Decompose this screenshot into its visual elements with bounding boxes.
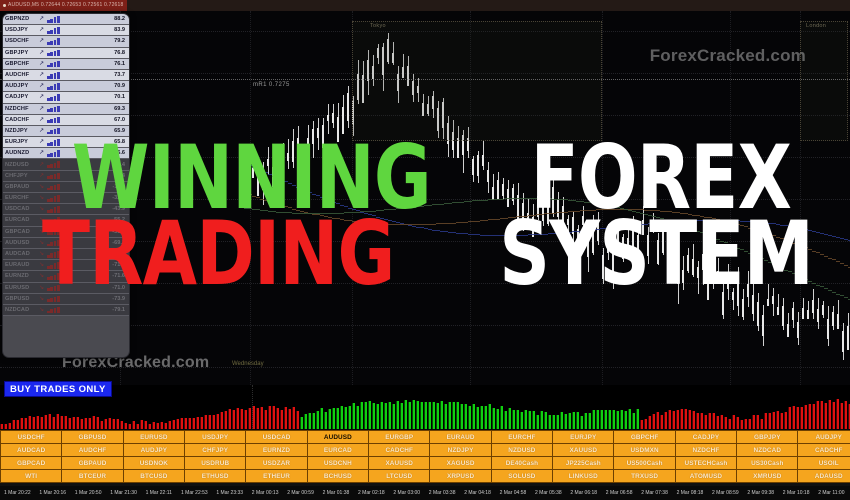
histogram-bar [144,421,147,429]
histogram-bar [748,419,751,429]
time-axis: 1 Mar 20:221 Mar 20:161 Mar 20:501 Mar 2… [0,486,850,500]
dashboard-cell-usdjpy[interactable]: USDJPY [185,431,246,444]
session-box-london [800,21,848,141]
dashboard-cell-usoil[interactable]: USOIL [798,457,850,470]
dashboard-cell-gbpaud[interactable]: GBPAUD [62,457,123,470]
histogram-bar [204,415,207,429]
strength-bars [47,284,71,291]
scanner-row[interactable]: EURCAD↘-55.2 [3,215,129,226]
histogram-bar [104,419,107,429]
trend-arrow-icon: ↗ [39,16,46,22]
dashboard-cell-us500cash[interactable]: US500Cash [614,457,675,470]
histogram-bar [92,416,95,429]
dashboard-cell-de40cash[interactable]: DE40Cash [491,457,552,470]
dashboard-cell-eurusd[interactable]: EURUSD [123,431,184,444]
scanner-row[interactable]: AUDCAD↘-71.1 [3,249,129,260]
dashboard-cell-usdnok[interactable]: USDNOK [123,457,184,470]
histogram-bar [200,417,203,429]
histogram-bar [612,410,615,429]
histogram-bar [12,420,15,429]
scanner-symbol: CHFJPY [5,173,38,179]
scanner-symbol: EURJPY [5,139,38,145]
histogram-bar [396,401,399,429]
histogram-bar [512,410,515,429]
dashboard-cell-eurgbp[interactable]: EURGBP [369,431,430,444]
dashboard-cell-usdmxn[interactable]: USDMXN [614,444,675,457]
scanner-value: 65.6 [72,150,127,156]
histogram-bar [260,407,263,429]
histogram-bar [56,414,59,429]
histogram-bar [488,404,491,429]
histogram-bar [316,411,319,429]
histogram-bar [152,422,155,429]
scanner-value: 73.7 [72,72,127,78]
table-row: USDCHFGBPUSDEURUSDUSDJPYUSDCADAUDUSDEURG… [1,431,850,444]
histogram-bar [108,418,111,429]
scanner-symbol: EURCAD [5,217,38,223]
dashboard-cell-audusd[interactable]: AUDUSD [307,431,368,444]
dashboard-cell-usdcad[interactable]: USDCAD [246,431,307,444]
histogram-bar [808,404,811,429]
scanner-value: -58.0 [72,229,127,235]
histogram-bar [292,407,295,429]
scanner-value: 65.9 [72,128,127,134]
histogram-bar [340,406,343,429]
scanner-row[interactable]: AUDCHF↗73.7 [3,70,129,81]
time-axis-label: 1 Mar 20:22 [4,490,31,496]
histogram-bar [780,413,783,429]
histogram-bar [320,408,323,429]
dashboard-cell-audcad[interactable]: AUDCAD [1,444,62,457]
histogram-bar [276,408,279,429]
dashboard-cell-nzdjpy[interactable]: NZDJPY [430,444,491,457]
dashboard-cell-eurchf[interactable]: EURCHF [491,431,552,444]
histogram-bar [172,420,175,429]
scanner-symbol: USDCHF [5,38,38,44]
histogram-bar [636,409,639,429]
histogram-bar [392,404,395,429]
scanner-symbol: AUDCHF [5,72,38,78]
scanner-row[interactable]: GBPJPY↗76.8 [3,48,129,59]
histogram-bar [624,411,627,429]
strength-bars [47,172,71,179]
scanner-row[interactable]: EURUSD↘-71.0 [3,283,129,294]
histogram-bar [804,405,807,429]
histogram-bar [256,408,259,429]
scanner-symbol: EURUSD [5,285,38,291]
scanner-value: -32.1 [72,195,127,201]
histogram-bar [528,411,531,429]
histogram-bar [548,415,551,429]
strength-bars [47,16,71,23]
scanner-symbol: NZDJPY [5,128,38,134]
scanner-row[interactable]: NZDCAD↘-79.1 [3,305,129,316]
scanner-value: 65.8 [72,139,127,145]
strength-bars [47,27,71,34]
dashboard-cell-gbpcad[interactable]: GBPCAD [1,457,62,470]
scanner-row[interactable]: AUDNZD↗65.6 [3,148,129,159]
histogram-bar [684,409,687,429]
time-axis-label: 2 Mar 03:00 [393,490,420,496]
trend-arrow-icon: ↗ [39,139,46,145]
scanner-symbol: GBPNZD [5,16,38,22]
dashboard-cell-nzdcad[interactable]: NZDCAD [737,444,798,457]
histogram-bar [584,413,587,429]
scanner-row[interactable]: GBPCHF↗76.1 [3,59,129,70]
strength-bars [47,239,71,246]
trend-arrow-icon: ↘ [39,240,46,246]
histogram-bar [652,414,655,429]
scanner-value: 79.2 [72,38,127,44]
scanner-row[interactable]: CHFJPY↗43.4 [3,171,129,182]
scanner-value: -71.1 [72,251,127,257]
histogram-bar [432,402,435,429]
histogram-bar [312,413,315,429]
histogram-bar [280,410,283,429]
dashboard-cell-xrpusd[interactable]: XRPUSD [430,470,491,483]
histogram-bar [188,418,191,429]
scanner-row[interactable]: GBPUSD↘-73.9 [3,294,129,305]
histogram-bar [760,419,763,429]
close-icon[interactable] [3,4,6,7]
dashboard-cell-eurjpy[interactable]: EURJPY [553,431,614,444]
histogram-bar [560,412,563,429]
strength-bars [47,105,71,112]
histogram-bar [844,401,847,429]
histogram-bar [236,408,239,429]
scanner-symbol: AUDCAD [5,251,38,257]
scanner-row[interactable]: CADJPY↗70.1 [3,92,129,103]
histogram-bar [120,421,123,429]
strength-bars [47,228,71,235]
histogram-bar [96,417,99,429]
dashboard-cell-usdchf[interactable]: USDCHF [1,431,62,444]
histogram-bar [232,410,235,429]
histogram-bar [620,410,623,429]
time-axis-label: 1 Mar 20:16 [39,490,66,496]
dashboard-cell-linkusd[interactable]: LINKUSD [553,470,614,483]
dashboard-cell-audjpy[interactable]: AUDJPY [123,444,184,457]
dashboard-cell-usdcnh[interactable]: USDCNH [307,457,368,470]
histogram-bar [472,404,475,429]
histogram-bar [324,412,327,429]
histogram-bar [444,404,447,430]
currency-strength-scanner[interactable]: GBPNZD↗88.2USDJPY↗83.9USDCHF↗79.2GBPJPY↗… [2,13,130,358]
histogram-bar [532,411,535,429]
trend-arrow-icon: ↘ [39,217,46,223]
histogram-bar [704,415,707,429]
histogram-bar [8,423,11,429]
histogram-bar [376,404,379,429]
histogram-bar [784,412,787,429]
momentum-histogram [0,385,850,429]
dashboard-cell-jp225cash[interactable]: JP225Cash [553,457,614,470]
scanner-symbol: CADCHF [5,117,38,123]
dashboard-cell-nzdusd[interactable]: NZDUSD [491,444,552,457]
dashboard-cell-btcusd[interactable]: BTCUSD [123,470,184,483]
scanner-row[interactable]: EURJPY↗65.8 [3,137,129,148]
histogram-bar [328,409,331,429]
strength-bars [47,183,71,190]
histogram-bar [116,419,119,429]
dashboard-cell-gbpchf[interactable]: GBPCHF [614,431,675,444]
histogram-bar [176,419,179,429]
histogram-bar [744,419,747,429]
histogram-bar [16,420,19,429]
trend-arrow-icon: ↘ [39,307,46,313]
histogram-bar [168,421,171,429]
histogram-bar [404,400,407,429]
dashboard-cell-cadjpy[interactable]: CADJPY [675,431,736,444]
dashboard-cell-usdzar[interactable]: USDZAR [246,457,307,470]
strength-bars [47,83,71,90]
dashboard-cell-audjpy[interactable]: AUDJPY [798,431,850,444]
histogram-bar [100,421,103,429]
scanner-value: -69.3 [72,240,127,246]
histogram-bar [124,423,127,429]
time-axis-label: 2 Mar 00:13 [252,490,279,496]
dashboard-cell-usdrub[interactable]: USDRUB [185,457,246,470]
histogram-bar [680,409,683,429]
scanner-row[interactable]: NZDCHF↗69.3 [3,104,129,115]
scanner-row[interactable]: AUDJPY↗70.9 [3,81,129,92]
histogram-bar [824,403,827,429]
trend-arrow-icon: ↗ [39,83,46,89]
trend-arrow-icon: ↘ [39,285,46,291]
histogram-bar [792,406,795,429]
strength-bars [47,49,71,56]
histogram-bar [240,409,243,429]
histogram-bar [464,404,467,429]
scanner-value: 76.8 [72,50,127,56]
scanner-value: -73.9 [72,296,127,302]
histogram-bar [592,410,595,429]
scanner-row[interactable]: AUDUSD↘-69.3 [3,238,129,249]
trend-arrow-icon: ↗ [39,162,46,168]
dashboard-cell-bchusd[interactable]: BCHUSD [307,470,368,483]
histogram-bar [752,415,755,429]
dashboard-cell-audchf[interactable]: AUDCHF [62,444,123,457]
trend-arrow-icon: ↘ [39,206,46,212]
scanner-row[interactable]: USDCAD↘-43.9 [3,204,129,215]
dashboard-cell-chfjpy[interactable]: CHFJPY [185,444,246,457]
scanner-row[interactable]: NZDJPY↗65.9 [3,126,129,137]
histogram-bar [32,417,35,429]
chart-tab-audusd[interactable]: AUDUSD,M5 0.72644 0.72653 0.72561 0.7261… [0,0,127,11]
dashboard-cell-xagusd[interactable]: XAGUSD [430,457,491,470]
histogram-bar [468,406,471,429]
histogram-bar [388,402,391,429]
scanner-symbol: AUDJPY [5,83,38,89]
histogram-bar [492,408,495,429]
histogram-bar [524,410,527,429]
histogram-bar [504,411,507,429]
dashboard-cell-cadchf[interactable]: CADCHF [369,444,430,457]
dashboard-cell-ustechcash[interactable]: USTECHCash [675,457,736,470]
time-axis-label: 1 Mar 20:50 [75,490,102,496]
histogram-bar [412,400,415,429]
scanner-value: 67.0 [72,117,127,123]
dashboard-cell-cadchf[interactable]: CADCHF [798,444,850,457]
trend-arrow-icon: ↘ [39,262,46,268]
dashboard-cell-gbpusd[interactable]: GBPUSD [62,431,123,444]
trend-arrow-icon: ↗ [39,50,46,56]
scanner-symbol: GBPAUD [5,184,38,190]
histogram-bar [796,407,799,429]
session-box-tokyo [352,21,602,141]
dashboard-cell-ltcusd[interactable]: LTCUSD [369,470,430,483]
histogram-bar [436,403,439,429]
histogram-bar [372,403,375,429]
dashboard-cell-etheur[interactable]: ETHEUR [246,470,307,483]
scanner-symbol: USDJPY [5,27,38,33]
trend-arrow-icon: ↘ [39,273,46,279]
strength-bars [47,262,71,269]
histogram-bar [44,415,47,429]
scanner-value: 88.2 [72,16,127,22]
histogram-bar [140,420,143,429]
scanner-row[interactable]: GBPNZD↗88.2 [3,14,129,25]
trend-arrow-icon: ↗ [39,72,46,78]
dashboard-cell-gbpjpy[interactable]: GBPJPY [737,431,798,444]
strength-bars [47,127,71,134]
scanner-value: -55.2 [72,217,127,223]
histogram-bar [336,408,339,429]
histogram-bar [788,407,791,429]
scanner-value: -71.0 [72,285,127,291]
histogram-bar [352,403,355,429]
histogram-bar [816,401,819,429]
dashboard-cell-nzdchf[interactable]: NZDCHF [675,444,736,457]
scanner-row[interactable]: EURCHF↘-32.1 [3,193,129,204]
histogram-bar [728,419,731,429]
histogram-bar [164,423,167,429]
dashboard-cell-wti[interactable]: WTI [1,470,62,483]
dashboard-cell-euraud[interactable]: EURAUD [430,431,491,444]
dashboard-cell-adausd[interactable]: ADAUSD [798,470,850,483]
dashboard-cell-trxusd[interactable]: TRXUSD [614,470,675,483]
histogram-bar [688,410,691,429]
histogram-bar [696,413,699,429]
dashboard-cell-xmrusd[interactable]: XMRUSD [737,470,798,483]
dashboard-cell-eurcad[interactable]: EURCAD [307,444,368,457]
histogram-bar [156,423,159,429]
dashboard-cell-us30cash[interactable]: US30Cash [737,457,798,470]
histogram-bar [812,404,815,429]
histogram-bar [712,413,715,429]
histogram-bar [384,403,387,429]
trading-terminal-screenshot: AUDUSD,M5 0.72644 0.72653 0.72561 0.7261… [0,0,850,500]
table-row: AUDCADAUDCHFAUDJPYCHFJPYEURNZDEURCADCADC… [1,444,850,457]
scanner-row[interactable]: GBPCAD↘-58.0 [3,227,129,238]
dashboard-cell-ethusd[interactable]: ETHUSD [185,470,246,483]
histogram-bar [304,414,307,429]
histogram-bar [508,408,511,429]
scanner-row[interactable]: GBPAUD↘-11.0 [3,182,129,193]
histogram-bar [644,419,647,429]
histogram-bar [556,415,559,429]
histogram-bar [640,420,643,429]
histogram-bar [580,416,583,430]
histogram-bar [112,419,115,429]
scanner-symbol: AUDNZD [5,150,38,156]
scanner-value: 43.4 [72,173,127,179]
dashboard-cell-xauusd[interactable]: XAUUSD [553,444,614,457]
histogram-bar [536,415,539,429]
scanner-value: 83.9 [72,27,127,33]
scanner-value: 69.3 [72,106,127,112]
titlebar-filler [127,0,850,11]
trend-arrow-icon: ↗ [39,128,46,134]
scanner-value: -71.2 [72,262,127,268]
time-axis-label: 2 Mar 06:18 [570,490,597,496]
histogram-bar [416,401,419,429]
scanner-value: -43.9 [72,206,127,212]
histogram-bar [608,410,611,429]
session-label-tokyo: Tokyo [370,23,386,29]
histogram-bar [344,407,347,430]
time-axis-label: 2 Mar 01:38 [323,490,350,496]
scanner-value: -11.0 [72,184,127,190]
time-axis-label: 2 Mar 04:18 [464,490,491,496]
window-titlebar: AUDUSD,M5 0.72644 0.72653 0.72561 0.7261… [0,0,850,11]
scanner-symbol: GBPJPY [5,50,38,56]
scanner-row[interactable]: EURAUD↘-71.2 [3,260,129,271]
dashboard-cell-solusd[interactable]: SOLUSD [491,470,552,483]
trend-arrow-icon: ↗ [39,27,46,33]
histogram-bar [616,411,619,429]
scanner-symbol: USDCAD [5,206,38,212]
time-axis-label: 1 Mar 22:11 [146,490,172,496]
scanner-row[interactable]: EURNZD↘-71.6 [3,271,129,282]
histogram-bar [76,417,79,429]
time-axis-label: 1 Mar 22:53 [181,490,208,496]
histogram-bar [764,413,767,429]
histogram-bar [332,408,335,429]
scanner-value: -71.6 [72,273,127,279]
time-axis-label: 2 Mar 09:38 [747,490,774,496]
scanner-row[interactable]: CADCHF↗67.0 [3,115,129,126]
histogram-bar [20,418,23,429]
strength-bars [47,94,71,101]
histogram-bar [356,406,359,429]
trend-arrow-icon: ↘ [39,251,46,257]
scanner-row[interactable]: USDCHF↗79.2 [3,36,129,47]
histogram-bar [184,418,187,429]
trend-arrow-icon: ↗ [39,173,46,179]
time-axis-label: 1 Mar 21:30 [110,490,137,496]
scanner-row[interactable]: USDJPY↗83.9 [3,25,129,36]
histogram-bar [52,417,55,429]
histogram-bar [180,418,183,429]
dashboard-cell-atomusd[interactable]: ATOMUSD [675,470,736,483]
histogram-bar [216,414,219,429]
histogram-bar [732,415,735,429]
histogram-bar [672,411,675,429]
histogram-bar [588,413,591,429]
histogram-bar [480,406,483,429]
strength-bars [47,206,71,213]
dashboard-cell-xauusd[interactable]: XAUUSD [369,457,430,470]
strength-bars [47,139,71,146]
histogram-bar [700,413,703,429]
scanner-row[interactable]: NZDUSD↗48.4 [3,159,129,170]
time-axis-label: 2 Mar 03:38 [429,490,456,496]
dashboard-cell-btceur[interactable]: BTCEUR [62,470,123,483]
scanner-symbol: EURNZD [5,273,38,279]
histogram-bar [212,415,215,429]
dashboard-cell-eurnzd[interactable]: EURNZD [246,444,307,457]
